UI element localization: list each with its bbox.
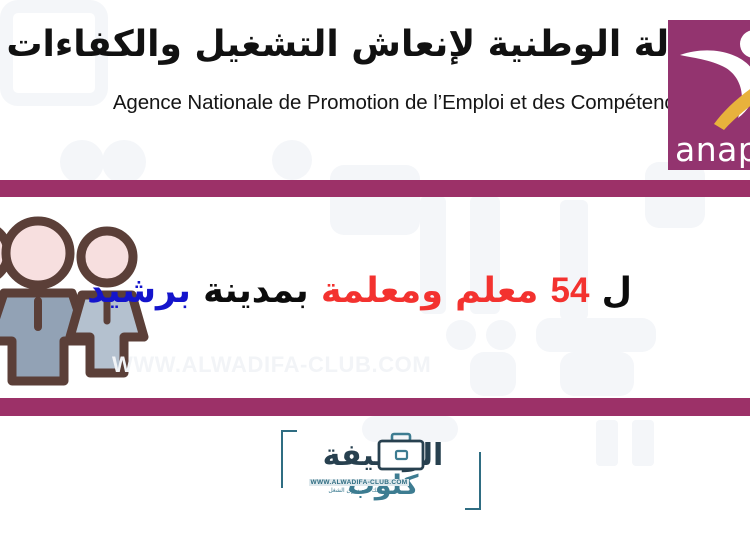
headline-role: معلم ومعلمة (321, 271, 551, 311)
divider-bottom (0, 398, 750, 416)
headline-city: برشيد (87, 271, 203, 311)
headline-prefix: ل (589, 271, 632, 311)
header-arabic-title: الوكالة الوطنية لإنعاش التشغيل والكفاءات (6, 22, 750, 67)
divider-top (0, 180, 750, 197)
banner-header: الوكالة الوطنية لإنعاش التشغيل والكفاءات… (0, 0, 750, 178)
recruitment-banner: الوكالة الوطنية لإنعاش التشغيل والكفاءات… (0, 0, 750, 536)
headline-wrapper: ل 45 معلم ومعلمة بمدينة برشيد (150, 243, 750, 339)
header-text-block: الوكالة الوطنية لإنعاش التشغيل والكفاءات… (0, 0, 660, 178)
club-tagline: طريقك نحو سوق الشغل (328, 487, 389, 494)
headline: ل 45 معلم ومعلمة بمدينة برشيد (32, 267, 632, 315)
headline-city-label: بمدينة (203, 271, 321, 311)
club-subtext: WWW.ALWADIFA-CLUB.COM طريقك نحو سوق الشغ… (299, 478, 419, 494)
alwadifa-club-logo: الوظيفة كلوب WWW.ALWADIFA-CLUB.COM طريقك… (281, 428, 481, 512)
watermark-url: WWW.ALWADIFA-CLUB.COM (112, 352, 431, 378)
briefcase-icon (377, 432, 425, 472)
headline-count: 45 (551, 271, 590, 310)
anapec-figure-icon (668, 20, 750, 132)
anapec-wordmark: anapec (675, 133, 750, 166)
anapec-logo: anapec (668, 20, 750, 170)
header-french-title: Agence Nationale de Promotion de l’Emplo… (113, 91, 696, 115)
club-url: WWW.ALWADIFA-CLUB.COM (309, 479, 410, 486)
